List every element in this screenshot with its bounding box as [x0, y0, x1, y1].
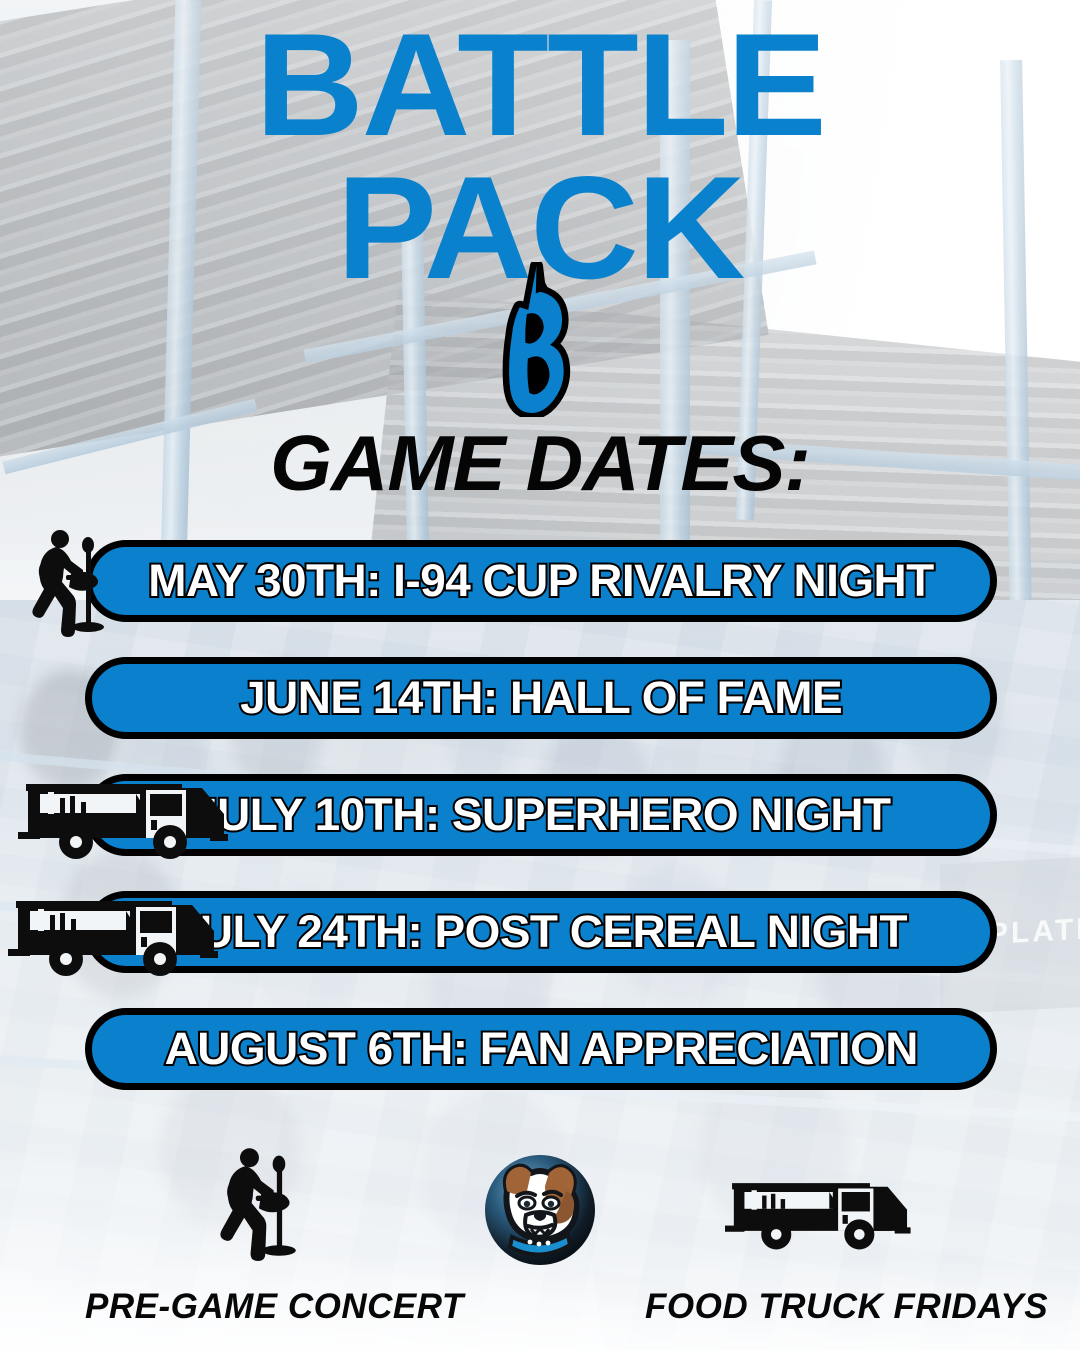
game-row: MAY 30TH: I-94 CUP RIVALRY NIGHT: [0, 540, 1080, 622]
feature-pre-game-concert: PRE-GAME CONCERT: [85, 1143, 435, 1327]
concert-guitarist-icon: [26, 525, 114, 642]
game-label: JULY 10TH: SUPERHERO NIGHT: [192, 789, 890, 841]
game-pill[interactable]: MAY 30TH: I-94 CUP RIVALRY NIGHT: [85, 540, 997, 622]
game-dates-heading: GAME DATES:: [0, 418, 1080, 509]
game-row: AUGUST 6TH: FAN APPRECIATION: [0, 1008, 1080, 1090]
feature-strip: PRE-GAME CONCERT: [0, 1143, 1080, 1350]
game-label: MAY 30TH: I-94 CUP RIVALRY NIGHT: [148, 555, 933, 607]
game-row: JULY 10TH: SUPERHERO NIGHT: [0, 774, 1080, 856]
food-truck-icon: [8, 885, 223, 985]
poster-content: BATTLE PACK GAME DATES:: [0, 0, 1080, 1350]
game-label: JULY 24TH: POST CEREAL NIGHT: [175, 906, 907, 958]
game-row: JULY 24TH: POST CEREAL NIGHT: [0, 891, 1080, 973]
food-truck-icon: [18, 768, 233, 868]
concert-guitarist-icon: [85, 1143, 435, 1261]
feature-mascot: [430, 1151, 650, 1295]
battle-creek-b-logo: [455, 262, 605, 417]
dog-mascot-badge-icon: [430, 1151, 650, 1269]
poster-title: BATTLE PACK: [0, 16, 1080, 297]
feature-food-truck-fridays: FOOD TRUCK FRIDAYS: [645, 1143, 995, 1327]
game-row: JUNE 14TH: HALL OF FAME: [0, 657, 1080, 739]
game-pill[interactable]: JUNE 14TH: HALL OF FAME: [85, 657, 997, 739]
battle-pack-poster: PLATE BATTLE PACK GAME DATES:: [0, 0, 1080, 1350]
title-line-battle: BATTLE: [0, 16, 1080, 155]
game-label: JUNE 14TH: HALL OF FAME: [240, 672, 842, 724]
game-dates-list: MAY 30TH: I-94 CUP RIVALRY NIGHT JUNE 14…: [0, 540, 1080, 1125]
feature-label: FOOD TRUCK FRIDAYS: [645, 1287, 995, 1327]
food-truck-icon: [645, 1143, 995, 1261]
feature-label: PRE-GAME CONCERT: [85, 1287, 435, 1327]
game-pill[interactable]: AUGUST 6TH: FAN APPRECIATION: [85, 1008, 997, 1090]
game-label: AUGUST 6TH: FAN APPRECIATION: [164, 1023, 917, 1075]
